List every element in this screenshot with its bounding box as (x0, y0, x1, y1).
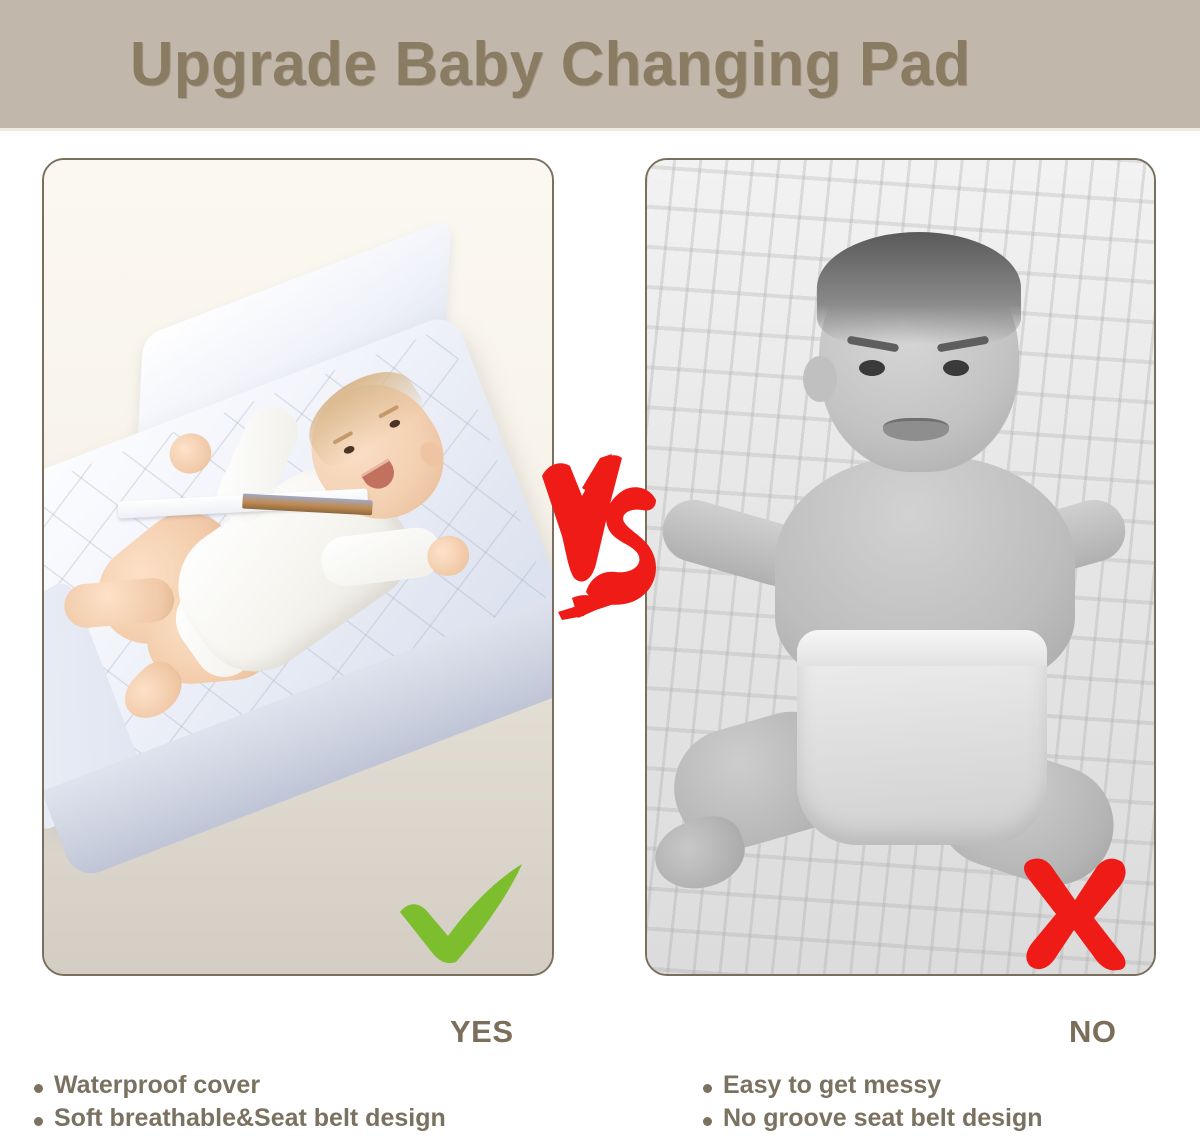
list-item: Easy to get messy (703, 1069, 1043, 1102)
list-item: No groove seat belt design (703, 1102, 1043, 1135)
vs-icon (538, 452, 660, 624)
bw-baby-eye-left (859, 360, 885, 376)
bullet-dot-icon (703, 1084, 712, 1093)
feature-list-no: Easy to get messy No groove seat belt de… (703, 1069, 1043, 1135)
feature-list-yes: Waterproof cover Soft breathable&Seat be… (34, 1069, 446, 1135)
list-item-label: Soft breathable&Seat belt design (54, 1102, 446, 1135)
baby-ear (416, 438, 447, 471)
caption-no: NO (1069, 1014, 1117, 1050)
list-item: Waterproof cover (34, 1069, 446, 1102)
bw-baby-ear (803, 356, 837, 402)
check-icon (392, 858, 532, 970)
bullet-dot-icon (34, 1117, 43, 1126)
list-item: Soft breathable&Seat belt design (34, 1102, 446, 1135)
bw-baby-eye-right (943, 360, 969, 376)
bw-baby-diaper-waistband (797, 630, 1047, 666)
caption-yes: YES (450, 1014, 514, 1050)
comparison-panel-no (645, 158, 1156, 976)
bullet-dot-icon (34, 1084, 43, 1093)
header-divider (0, 128, 1200, 131)
list-item-label: Waterproof cover (54, 1069, 260, 1102)
header-band: Upgrade Baby Changing Pad (0, 0, 1200, 128)
bw-baby-hair (817, 232, 1021, 344)
cross-icon (1014, 856, 1136, 972)
comparison-panel-yes (42, 158, 554, 976)
list-item-label: Easy to get messy (723, 1069, 941, 1102)
page-title: Upgrade Baby Changing Pad (130, 29, 971, 100)
bullet-dot-icon (703, 1117, 712, 1126)
baby-illustration-grayscale (647, 160, 1154, 974)
bw-baby-mouth-frowning (883, 418, 949, 441)
baby-hand-raised (164, 427, 218, 479)
list-item-label: No groove seat belt design (723, 1102, 1043, 1135)
